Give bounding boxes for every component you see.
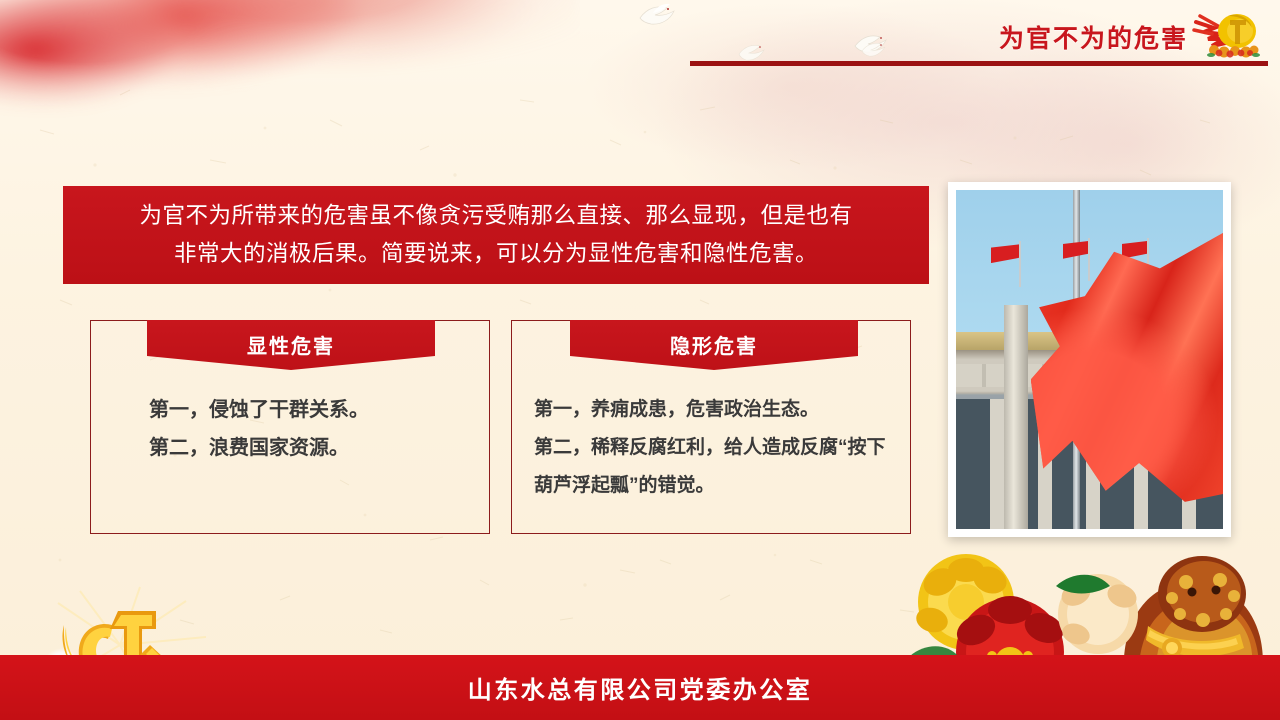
header-divider <box>690 61 1268 66</box>
banner-line-1: 为官不为所带来的危害虽不像贪污受贿那么直接、那么显现，但是也有 <box>139 197 852 235</box>
card-line: 第一，侵蚀了干群关系。 <box>149 391 465 429</box>
party-emblem-icon <box>1190 6 1260 58</box>
slide-root: 为官不为的危害 <box>0 0 1280 720</box>
banner-line-2: 非常大的消极后果。简要说来，可以分为显性危害和隐性危害。 <box>174 235 818 273</box>
card-body: 第一，养痈成患，危害政治生态。 第二，稀释反腐红利，给人造成反腐“按下葫芦浮起瓢… <box>512 391 910 505</box>
card-line: 第二，浪费国家资源。 <box>149 429 465 467</box>
card-line: 第二，稀释反腐红利，给人造成反腐“按下葫芦浮起瓢”的错觉。 <box>534 429 896 505</box>
intro-banner: 为官不为所带来的危害虽不像贪污受贿那么直接、那么显现，但是也有 非常大的消极后果… <box>63 186 929 284</box>
card-title-ribbon: 显性危害 <box>147 320 435 370</box>
card-hidden-harm: 隐形危害 第一，养痈成患，危害政治生态。 第二，稀释反腐红利，给人造成反腐“按下… <box>511 320 911 534</box>
red-flag-wash <box>0 0 580 140</box>
card-explicit-harm: 显性危害 第一，侵蚀了干群关系。 第二，浪费国家资源。 <box>90 320 490 534</box>
dove-icon <box>637 2 677 28</box>
dove-icon <box>860 40 888 60</box>
card-body: 第一，侵蚀了干群关系。 第二，浪费国家资源。 <box>91 391 489 467</box>
page-title: 为官不为的危害 <box>999 19 1188 55</box>
footer-text: 山东水总有限公司党委办公室 <box>0 655 1280 720</box>
great-hall-red-flags-photo <box>948 182 1231 537</box>
card-title-ribbon: 隐形危害 <box>570 320 858 370</box>
card-line: 第一，养痈成患，危害政治生态。 <box>534 391 896 429</box>
